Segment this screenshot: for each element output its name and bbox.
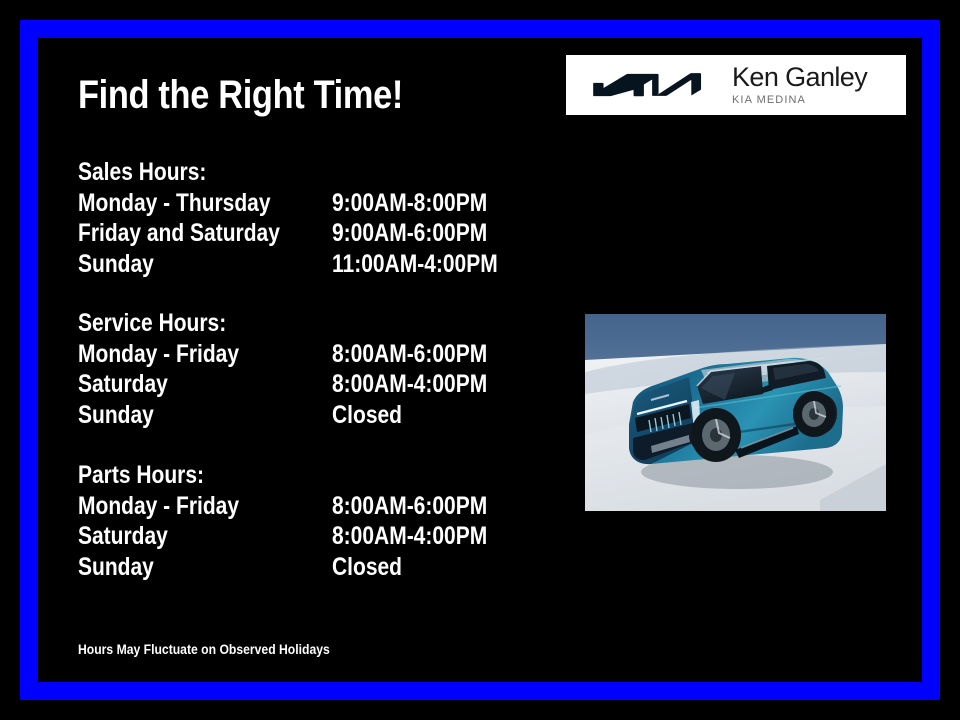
time-value: 8:00AM-4:00PM	[332, 369, 487, 400]
section-heading-parts: Parts Hours:	[78, 460, 204, 491]
time-value: 9:00AM-6:00PM	[332, 218, 487, 249]
dealership-hours-slide: Find the Right Time! Sales Hours: Monday…	[0, 0, 960, 720]
dealer-logo-lockup: Ken Ganley KIA MEDINA	[566, 55, 906, 115]
parts-hours-block: Parts Hours: Monday - Friday 8:00AM-6:00…	[78, 460, 228, 582]
service-hours-block: Service Hours: Monday - Friday 8:00AM-6:…	[78, 308, 254, 430]
hours-row: Monday - Friday 8:00AM-6:00PM	[78, 491, 228, 522]
time-value: 8:00AM-4:00PM	[332, 521, 487, 552]
hours-row: Sunday 11:00AM-4:00PM	[78, 249, 231, 280]
kia-logo-icon	[584, 68, 706, 102]
day-label: Monday - Thursday	[78, 188, 271, 219]
time-value: Closed	[332, 552, 402, 583]
day-label: Monday - Friday	[78, 491, 239, 522]
day-label: Sunday	[78, 400, 154, 431]
hours-row: Monday - Friday 8:00AM-6:00PM	[78, 339, 254, 370]
hours-row: Friday and Saturday 9:00AM-6:00PM	[78, 218, 231, 249]
kia-ev9-suv-illustration	[585, 314, 886, 511]
time-value: Closed	[332, 400, 402, 431]
hours-row: Monday - Thursday 9:00AM-8:00PM	[78, 188, 231, 219]
day-label: Sunday	[78, 552, 154, 583]
hours-row: Sunday Closed	[78, 552, 228, 583]
day-label: Sunday	[78, 249, 154, 280]
day-label: Saturday	[78, 369, 168, 400]
hours-row: Sunday Closed	[78, 400, 254, 431]
day-label: Saturday	[78, 521, 168, 552]
time-value: 8:00AM-6:00PM	[332, 491, 487, 522]
time-value: 9:00AM-8:00PM	[332, 188, 487, 219]
section-heading-sales: Sales Hours:	[78, 157, 206, 188]
dealer-subtitle: KIA MEDINA	[732, 95, 867, 106]
day-label: Monday - Friday	[78, 339, 239, 370]
page-title: Find the Right Time!	[78, 74, 403, 116]
hours-row: Saturday 8:00AM-4:00PM	[78, 521, 228, 552]
dealer-wordmark: Ken Ganley KIA MEDINA	[732, 64, 867, 106]
sales-hours-block: Sales Hours: Monday - Thursday 9:00AM-8:…	[78, 157, 231, 279]
section-heading-service: Service Hours:	[78, 308, 226, 339]
day-label: Friday and Saturday	[78, 218, 280, 249]
dealer-name: Ken Ganley	[732, 64, 867, 91]
vehicle-photo	[585, 314, 886, 511]
time-value: 11:00AM-4:00PM	[332, 249, 498, 280]
footer-disclaimer: Hours May Fluctuate on Observed Holidays	[78, 641, 330, 657]
time-value: 8:00AM-6:00PM	[332, 339, 487, 370]
hours-row: Saturday 8:00AM-4:00PM	[78, 369, 254, 400]
